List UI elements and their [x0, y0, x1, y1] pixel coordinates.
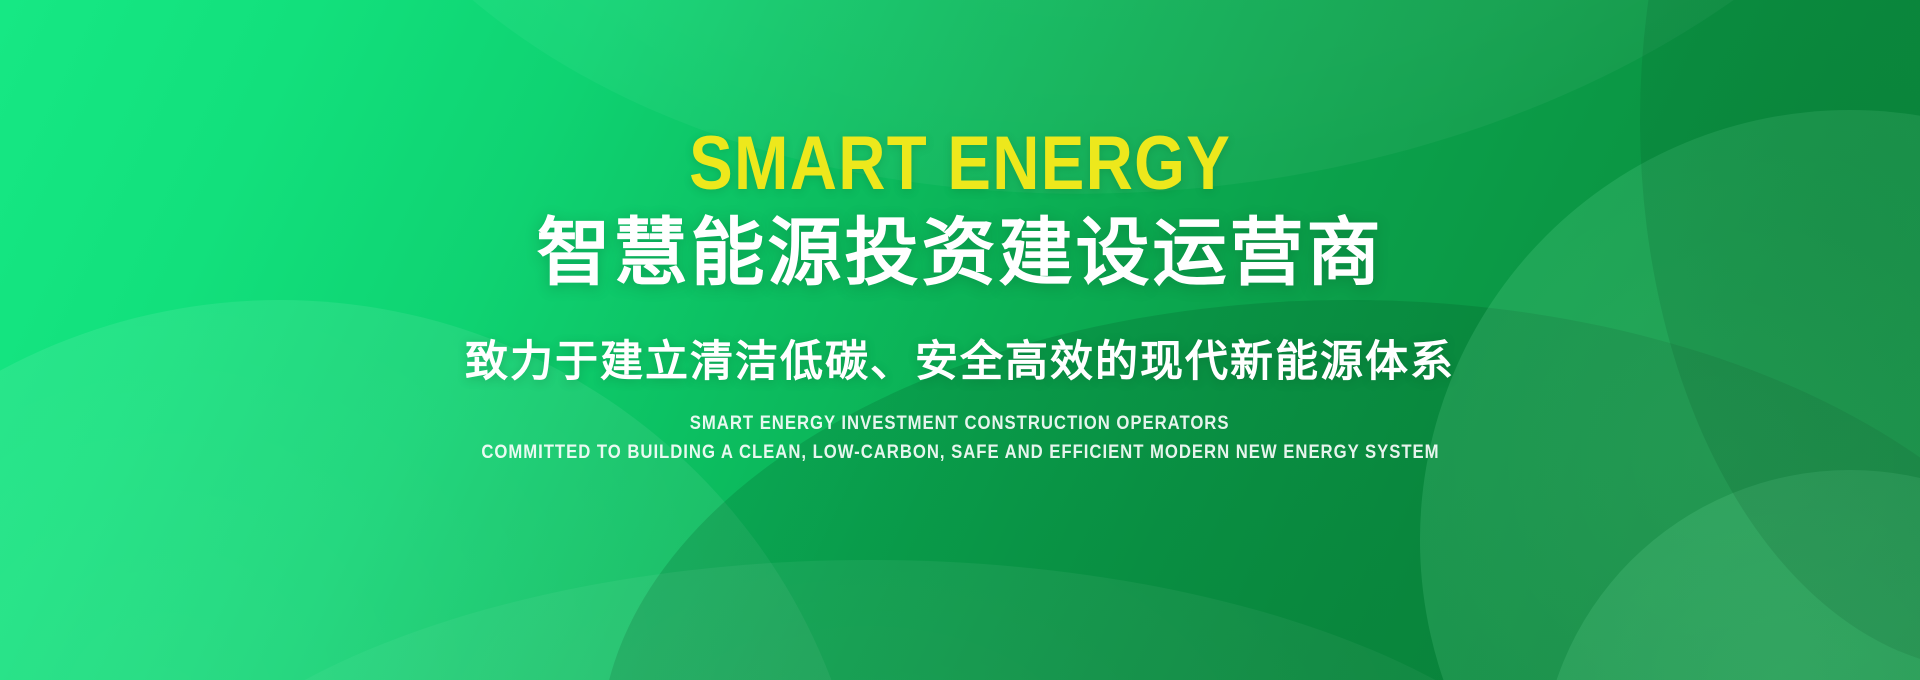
headline-chinese: 智慧能源投资建设运营商 — [537, 213, 1384, 293]
headline-english: SMART ENERGY — [689, 128, 1231, 201]
subheadline-english-line-1: SMART ENERGY INVESTMENT CONSTRUCTION OPE… — [690, 412, 1230, 436]
subheadline-english-line-2: COMMITTED TO BUILDING A CLEAN, LOW-CARBO… — [481, 441, 1439, 465]
hero-banner: SMART ENERGY 智慧能源投资建设运营商 致力于建立清洁低碳、安全高效的… — [0, 0, 1920, 680]
subheadline-chinese: 致力于建立清洁低碳、安全高效的现代新能源体系 — [465, 337, 1455, 389]
subheadline-english-block: SMART ENERGY INVESTMENT CONSTRUCTION OPE… — [416, 412, 1505, 465]
banner-text-stack: SMART ENERGY 智慧能源投资建设运营商 致力于建立清洁低碳、安全高效的… — [0, 0, 1920, 680]
